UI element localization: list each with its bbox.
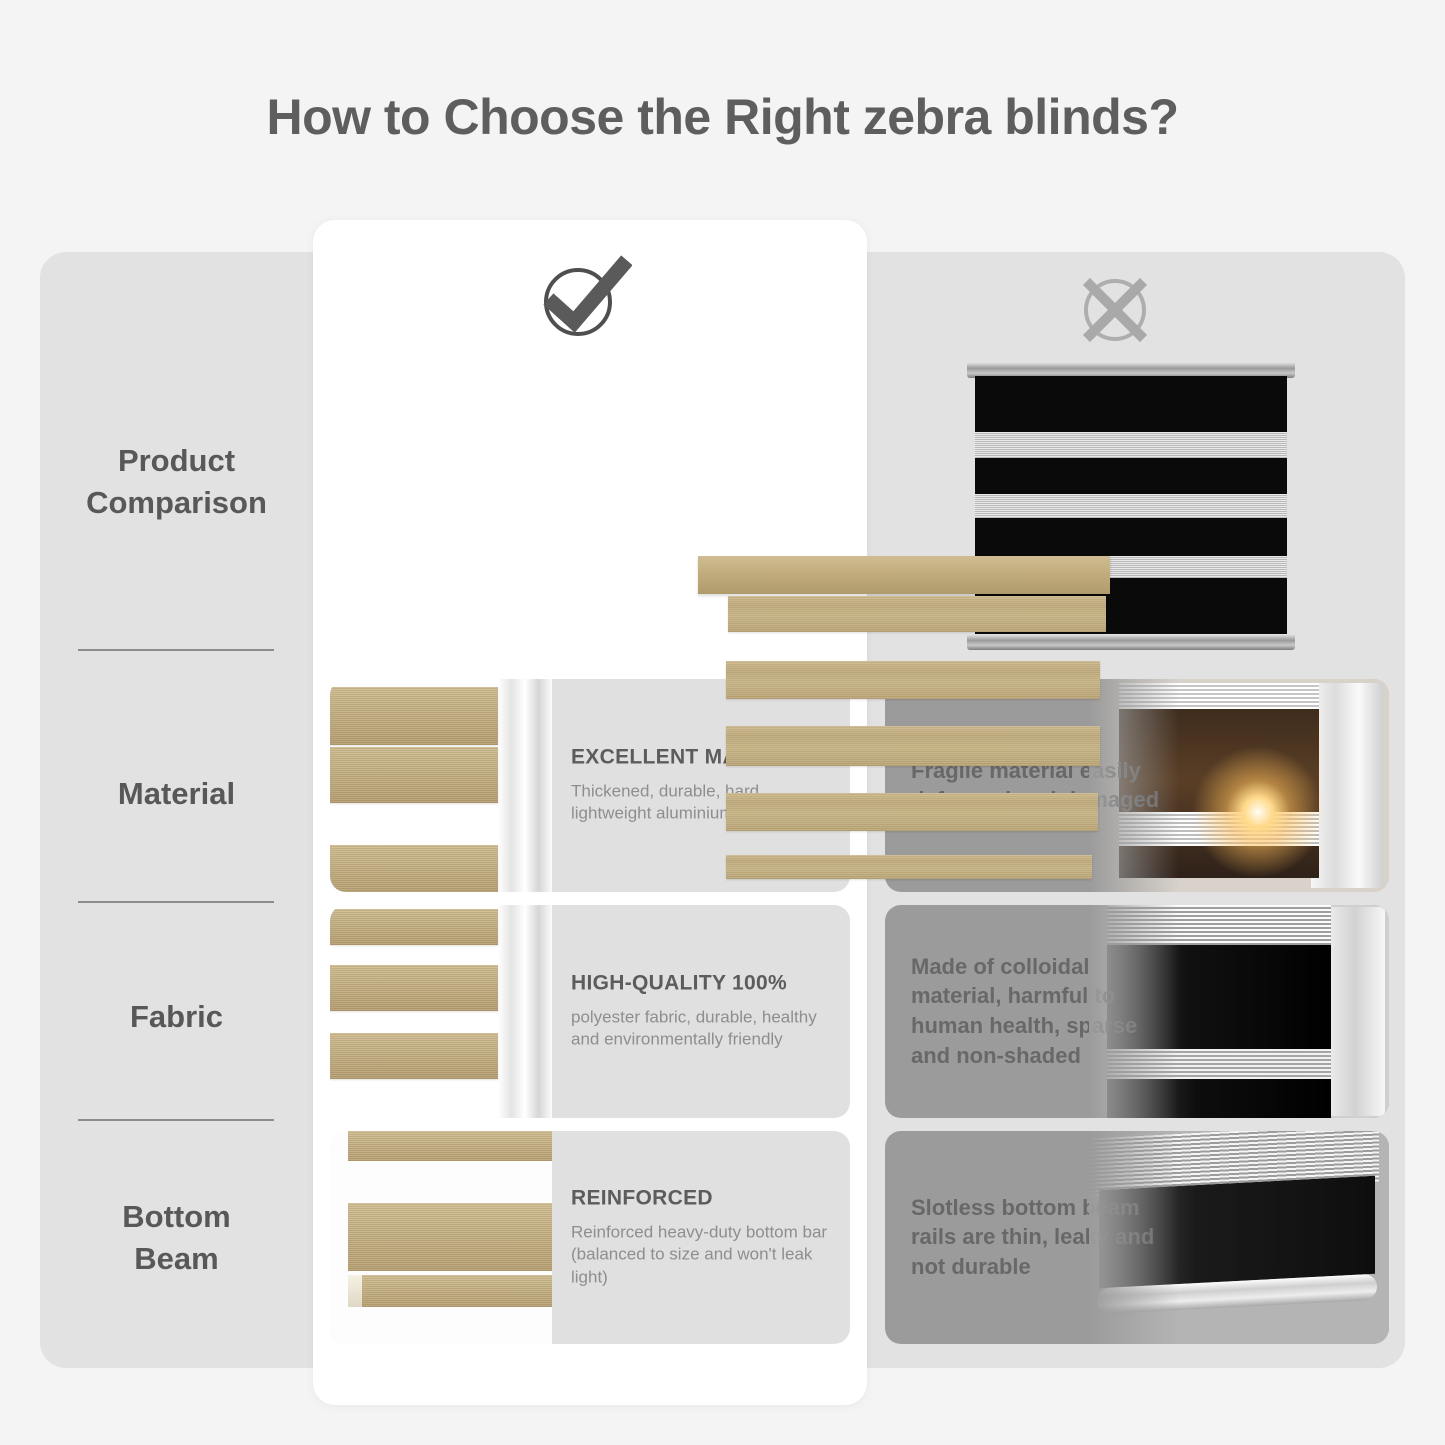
row-label-material: Material <box>40 773 313 815</box>
cross-circle-icon <box>1077 272 1153 353</box>
blind-slat <box>330 687 498 745</box>
blind-slat <box>330 1033 498 1079</box>
window-frame <box>498 905 552 1118</box>
blind-slat <box>348 1203 552 1271</box>
blind-slat <box>726 661 1100 699</box>
blind-sheer-stripe <box>975 494 1287 518</box>
row-label-product-comparison: Product Comparison <box>40 440 313 524</box>
window-frame <box>498 679 552 892</box>
window-frame <box>1325 907 1385 1116</box>
blind-dark-stripe <box>1107 1079 1331 1118</box>
blind-dark-stripe <box>1107 945 1331 1049</box>
row-divider-2 <box>78 901 274 903</box>
blind-headrail <box>698 556 1110 594</box>
blind-bottom-bar <box>348 1275 552 1307</box>
row-divider-3 <box>78 1119 274 1121</box>
blind-slat <box>330 965 498 1011</box>
check-circle-icon <box>536 252 632 349</box>
row-label-line-1: Bottom <box>122 1199 230 1234</box>
blind-sheer-stripe <box>1107 905 1331 945</box>
thin-bottom-rail-closeup-image <box>1089 1131 1389 1344</box>
blind-slats-blurred <box>1119 683 1319 709</box>
blind-bottom-bar <box>726 855 1092 879</box>
blind-slat <box>330 747 498 803</box>
bad-feature-card-fabric: Made of colloidal material, harmful to h… <box>885 905 1389 1118</box>
blind-slat <box>348 1131 552 1161</box>
blind-sheer-stripe <box>1107 1049 1331 1079</box>
good-feature-text-bottom-beam: REINFORCED Reinforced heavy-duty bottom … <box>571 1186 833 1289</box>
feature-description: polyester fabric, durable, healthy and e… <box>571 1006 833 1052</box>
blind-slat <box>330 845 498 892</box>
sun-glare-through-blind-image <box>1089 679 1389 892</box>
row-label-sidebar: Product Comparison Material Fabric Botto… <box>40 252 313 1368</box>
beige-blind-fabric-closeup-image <box>330 905 552 1118</box>
good-feature-text-fabric: HIGH-QUALITY 100% polyester fabric, dura… <box>571 971 833 1052</box>
beige-zebra-blind-product-image <box>698 556 1110 886</box>
feature-title: REINFORCED <box>571 1186 833 1210</box>
good-feature-card-fabric: HIGH-QUALITY 100% polyester fabric, dura… <box>330 905 850 1118</box>
row-label-line-1: Product <box>118 443 235 478</box>
row-label-line-2: Comparison <box>86 485 267 520</box>
row-label-line-2: Beam <box>134 1241 218 1276</box>
blind-slat <box>728 596 1106 632</box>
dark-sparse-fabric-closeup-image <box>1089 905 1389 1118</box>
bottom-bar-end-cap <box>348 1275 362 1307</box>
blind-sheer-stripe <box>975 432 1287 458</box>
bad-feature-card-bottom-beam: Slotless bottom beam rails are thin, lea… <box>885 1131 1389 1344</box>
blind-slat <box>726 726 1100 766</box>
row-label-bottom-beam: Bottom Beam <box>40 1196 313 1280</box>
page-title: How to Choose the Right zebra blinds? <box>0 88 1445 146</box>
row-label-fabric: Fabric <box>40 996 313 1038</box>
blind-slat <box>330 909 498 945</box>
blind-dark-stripe <box>1099 1176 1375 1288</box>
row-divider-1 <box>78 649 274 651</box>
good-feature-card-bottom-beam: REINFORCED Reinforced heavy-duty bottom … <box>330 1131 850 1344</box>
feature-title: HIGH-QUALITY 100% <box>571 971 833 995</box>
blind-slat <box>726 793 1098 831</box>
sun-glare <box>1183 737 1333 887</box>
beige-blind-bottom-bar-closeup-image <box>330 1131 552 1344</box>
good-column-card: EXCELLENT MATERIAL Thickened, durable, h… <box>313 220 867 1405</box>
beige-blind-headrail-closeup-image <box>330 679 552 892</box>
feature-description: Reinforced heavy-duty bottom bar (balanc… <box>571 1221 833 1289</box>
